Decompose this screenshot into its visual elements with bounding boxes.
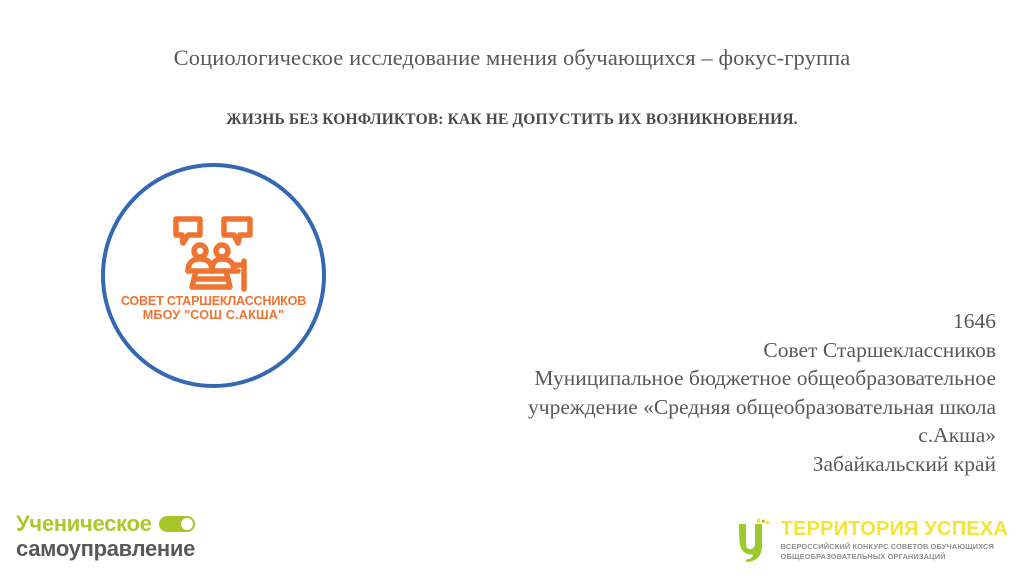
- student-logo-word-gray: самоуправление: [16, 538, 195, 560]
- contest-logo-title: ТЕРРИТОРИЯ УСПЕХА: [781, 519, 1008, 539]
- council-caption-line-2: МБОУ "СОШ С.АКША": [90, 309, 338, 323]
- council-logo-caption: СОВЕТ СТАРШЕКЛАССНИКОВ МБОУ "СОШ С.АКША": [90, 295, 338, 322]
- slide-title: Социологическое исследование мнения обуч…: [62, 44, 962, 72]
- info-line-region: Забайкальский край: [426, 450, 996, 479]
- info-line-institution-1: Муниципальное бюджетное общеобразователь…: [426, 364, 996, 393]
- slide-subtitle: ЖИЗНЬ БЕЗ КОНФЛИКТОВ: КАК НЕ ДОПУСТИТЬ И…: [62, 110, 962, 129]
- info-line-institution-2: учреждение «Средняя общеобразовательная …: [426, 393, 996, 422]
- info-line-council: Совет Старшеклассников: [426, 336, 996, 365]
- contest-logo-subtitle: ВСЕРОССИЙСКИЙ КОНКУРС СОВЕТОВ ОБУЧАЮЩИХС…: [781, 542, 1008, 562]
- info-line-institution-3: с.Акша»: [426, 421, 996, 450]
- contest-subtitle-line-1: ВСЕРОССИЙСКИЙ КОНКУРС СОВЕТОВ ОБУЧАЮЩИХС…: [781, 542, 1008, 552]
- student-self-government-logo: Ученическое самоуправление: [16, 513, 276, 569]
- student-logo-first-line: Ученическое: [16, 513, 195, 535]
- contest-subtitle-line-2: ОБЩЕОБРАЗОВАТЕЛЬНЫХ ОРГАНИЗАЦИЙ: [781, 552, 1008, 562]
- school-info-block: 1646 Совет Старшеклассников Муниципально…: [426, 307, 996, 479]
- letter-u-mark-icon: [735, 518, 775, 562]
- contest-logo: ТЕРРИТОРИЯ УСПЕХА ВСЕРОССИЙСКИЙ КОНКУРС …: [735, 516, 1008, 568]
- council-caption-line-1: СОВЕТ СТАРШЕКЛАССНИКОВ: [121, 294, 306, 308]
- contest-logo-text: ТЕРРИТОРИЯ УСПЕХА ВСЕРОССИЙСКИЙ КОНКУРС …: [781, 516, 1008, 562]
- presentation-slide: Социологическое исследование мнения обуч…: [0, 0, 1024, 576]
- two-people-speech-bubbles-icon: [166, 215, 262, 299]
- council-logo: СОВЕТ СТАРШЕКЛАССНИКОВ МБОУ "СОШ С.АКША": [101, 163, 326, 388]
- info-line-number: 1646: [426, 307, 996, 336]
- toggle-switch-icon: [159, 516, 195, 532]
- student-logo-word-green: Ученическое: [16, 513, 152, 535]
